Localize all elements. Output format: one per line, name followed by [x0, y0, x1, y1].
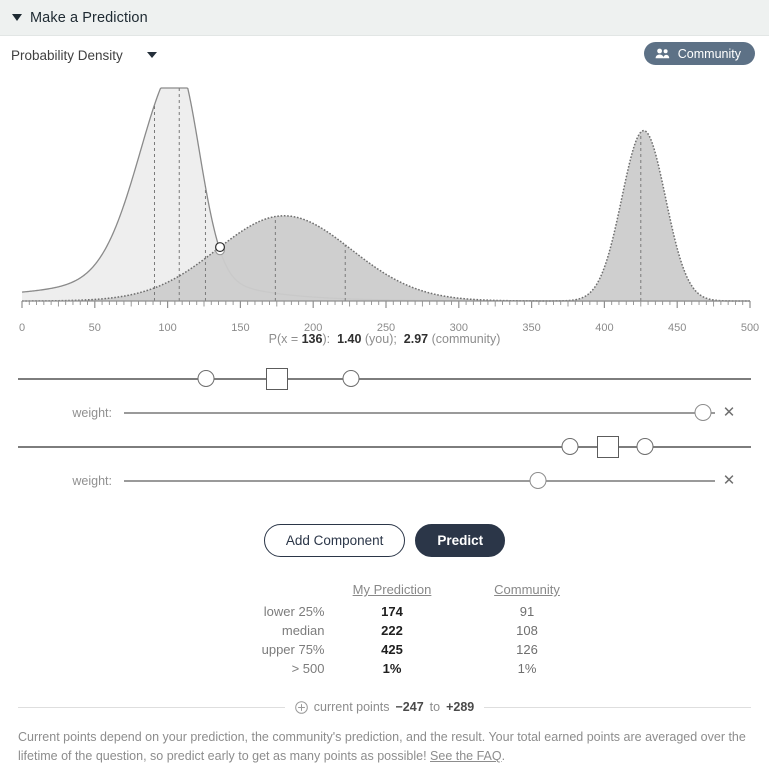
table-row: > 5001%1%	[175, 659, 595, 678]
x-axis-labels: 050100150200250300350400450500	[0, 322, 769, 340]
result-community-2: 126	[460, 640, 595, 659]
x-axis-label-200: 200	[304, 322, 322, 334]
component-2-weight-row: weight:✕	[18, 464, 751, 498]
component-1-weight-row: weight:✕	[18, 396, 751, 430]
divider-left	[18, 707, 285, 708]
page-title: Make a Prediction	[30, 10, 148, 26]
x-axis-label-500: 500	[741, 322, 759, 334]
x-axis-label-300: 300	[450, 322, 468, 334]
component-1-weight-label: weight:	[18, 406, 124, 420]
component-2-lower-handle[interactable]	[561, 438, 578, 455]
component-2-weight-label: weight:	[18, 474, 124, 488]
result-community-1: 108	[460, 621, 595, 640]
panel-header[interactable]: Make a Prediction	[0, 0, 769, 36]
density-plot-svg[interactable]	[0, 74, 769, 324]
plus-circle-icon	[295, 701, 308, 714]
component-1-range[interactable]	[18, 362, 751, 396]
result-community-3: 1%	[460, 659, 595, 678]
add-component-button[interactable]: Add Component	[264, 524, 406, 557]
component-1-weight-handle[interactable]	[695, 404, 712, 421]
x-axis-ticks	[22, 301, 750, 308]
community-toggle-label: Community	[678, 47, 741, 61]
predict-button[interactable]: Predict	[415, 524, 505, 557]
result-label-3: > 500	[175, 659, 325, 678]
component-1-track[interactable]	[18, 378, 751, 380]
points-high: +289	[446, 700, 474, 714]
table-row: lower 25%17491	[175, 602, 595, 621]
component-1-lower-handle[interactable]	[198, 370, 215, 387]
community-toggle-button[interactable]: Community	[644, 42, 755, 65]
current-points-row: current points−247 to +289	[18, 700, 751, 714]
component-2-weight-slider[interactable]	[124, 464, 715, 498]
table-header-blank	[175, 581, 325, 602]
component-2-range[interactable]	[18, 430, 751, 464]
result-mine-2: 425	[325, 640, 460, 659]
prediction-results-table: My Prediction Community lower 25%17491me…	[175, 581, 595, 678]
x-axis-label-50: 50	[89, 322, 101, 334]
hover-marker-my-prediction[interactable]	[216, 243, 225, 252]
divider-right	[484, 707, 751, 708]
x-axis-label-100: 100	[158, 322, 176, 334]
component-1-weight-slider[interactable]	[124, 396, 715, 430]
component-2-weight-handle[interactable]	[529, 472, 546, 489]
component-2: weight:✕	[0, 430, 769, 498]
component-1-center-handle[interactable]	[266, 368, 288, 390]
chevron-down-icon[interactable]	[147, 52, 157, 58]
component-1-remove-icon[interactable]: ✕	[721, 405, 737, 421]
chart-toolbar: Probability Density Community	[0, 36, 769, 74]
x-axis-label-250: 250	[377, 322, 395, 334]
hover-markers[interactable]	[216, 243, 225, 255]
table-row: upper 75%425126	[175, 640, 595, 659]
result-mine-1: 222	[325, 621, 460, 640]
result-mine-3: 1%	[325, 659, 460, 678]
x-axis-label-0: 0	[19, 322, 25, 334]
x-axis-label-450: 450	[668, 322, 686, 334]
component-2-weight-track[interactable]	[124, 480, 715, 482]
points-footnote: Current points depend on your prediction…	[18, 728, 751, 767]
result-community-0: 91	[460, 602, 595, 621]
table-header-community: Community	[460, 581, 595, 602]
table-header-row: My Prediction Community	[175, 581, 595, 602]
component-2-center-handle[interactable]	[597, 436, 619, 458]
component-2-upper-handle[interactable]	[636, 438, 653, 455]
x-axis-label-350: 350	[522, 322, 540, 334]
component-1: weight:✕	[0, 362, 769, 430]
table-header-my-prediction: My Prediction	[325, 581, 460, 602]
density-mode-select[interactable]: Probability Density	[11, 48, 157, 63]
points-middle: to	[430, 700, 440, 714]
faq-link[interactable]: See the FAQ	[430, 749, 502, 763]
component-sliders: weight:✕weight:✕	[0, 362, 769, 498]
component-1-upper-handle[interactable]	[342, 370, 359, 387]
table-row: median222108	[175, 621, 595, 640]
component-1-weight-track[interactable]	[124, 412, 715, 414]
component-2-remove-icon[interactable]: ✕	[721, 473, 737, 489]
prediction-density-chart[interactable]: 050100150200250300350400450500	[0, 74, 769, 324]
density-mode-label: Probability Density	[11, 48, 123, 63]
footnote-period: .	[502, 749, 505, 763]
current-points-text: current points−247 to +289	[295, 700, 474, 714]
points-prefix: current points	[314, 700, 390, 714]
people-icon	[655, 48, 670, 59]
triangle-down-icon[interactable]	[12, 14, 22, 21]
points-low: −247	[396, 700, 424, 714]
result-label-2: upper 75%	[175, 640, 325, 659]
x-axis-label-150: 150	[231, 322, 249, 334]
result-label-0: lower 25%	[175, 602, 325, 621]
footnote-text: Current points depend on your prediction…	[18, 730, 746, 763]
result-label-1: median	[175, 621, 325, 640]
action-buttons: Add Component Predict	[0, 524, 769, 557]
result-mine-0: 174	[325, 602, 460, 621]
x-axis-label-400: 400	[595, 322, 613, 334]
